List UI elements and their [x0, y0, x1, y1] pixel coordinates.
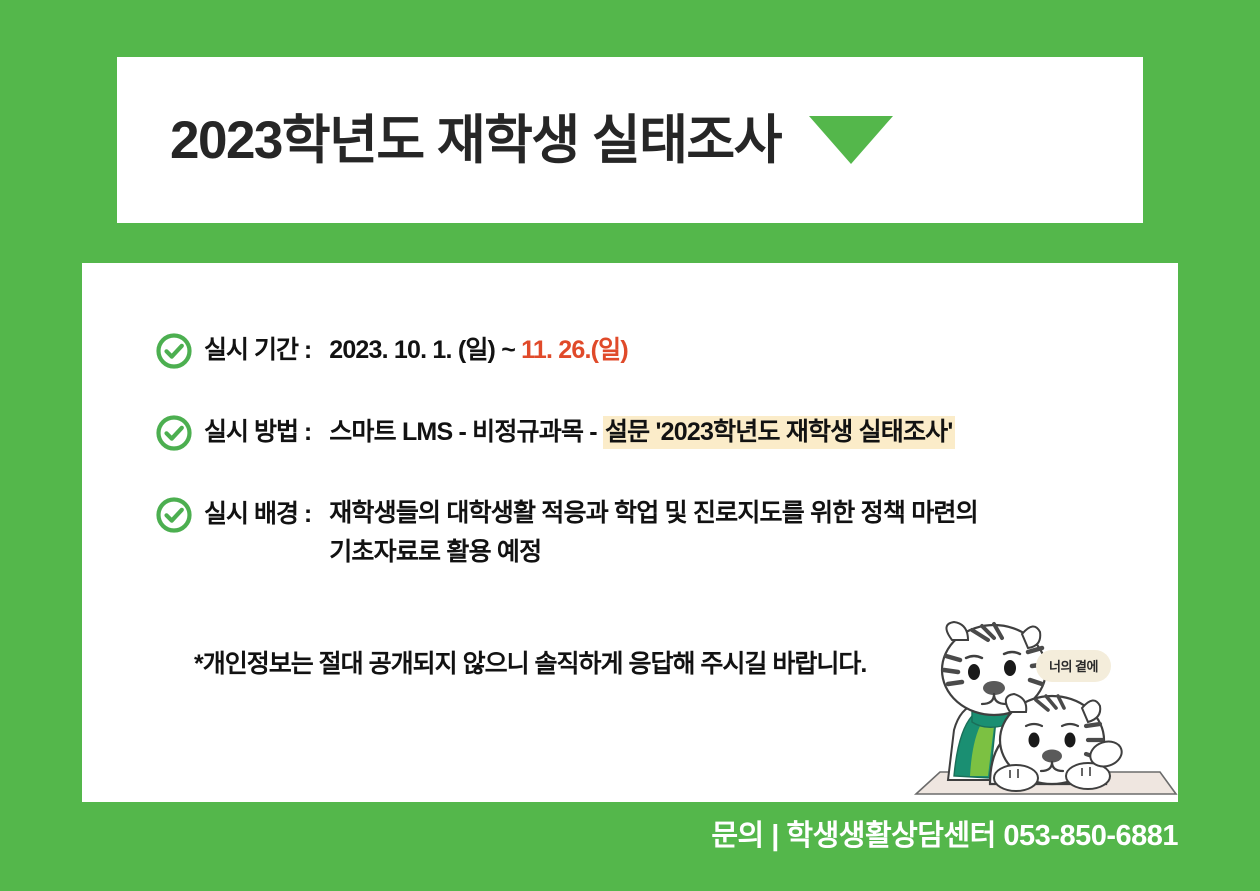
triangle-down-icon	[809, 116, 893, 164]
row-value-method: 스마트 LMS - 비정규과목 - 설문 '2023학년도 재학생 실태조사'	[329, 413, 954, 451]
check-circle-icon	[155, 414, 193, 452]
info-list: 실시 기간 : 2023. 10. 1. (일) ~ 11. 26.(일) 실시…	[155, 331, 1155, 614]
method-path: 스마트 LMS - 비정규과목 -	[329, 418, 603, 446]
row-label-method: 실시 방법 :	[204, 413, 311, 451]
footer-contact: 문의 | 학생생활상담센터 053-850-6881	[0, 812, 1178, 854]
info-row-method: 실시 방법 : 스마트 LMS - 비정규과목 - 설문 '2023학년도 재학…	[155, 413, 1155, 452]
check-circle-icon	[155, 332, 193, 370]
row-label-period: 실시 기간 :	[204, 331, 311, 369]
row-label-background: 실시 배경 :	[204, 495, 311, 533]
tiger-illustration	[910, 612, 1178, 802]
period-end: 11. 26.(일)	[521, 336, 628, 364]
period-start: 2023. 10. 1. (일) ~	[329, 336, 521, 364]
info-row-period: 실시 기간 : 2023. 10. 1. (일) ~ 11. 26.(일)	[155, 331, 1155, 370]
check-circle-icon	[155, 496, 193, 534]
background-line-1: 재학생들의 대학생활 적응과 학업 및 진로지도를 위한 정책 마련의	[329, 499, 978, 527]
info-row-background: 실시 배경 : 재학생들의 대학생활 적응과 학업 및 진로지도를 위한 정책 …	[155, 495, 1155, 571]
white-tiger-mascots: 너의 곁에	[910, 612, 1178, 802]
background-line-2: 기초자료로 활용 예정	[329, 534, 978, 571]
row-value-background: 재학생들의 대학생활 적응과 학업 및 진로지도를 위한 정책 마련의 기초자료…	[329, 495, 978, 571]
page-title: 2023학년도 재학생 실태조사	[170, 114, 781, 167]
title-card: 2023학년도 재학생 실태조사	[117, 57, 1143, 223]
main-content-card: 실시 기간 : 2023. 10. 1. (일) ~ 11. 26.(일) 실시…	[82, 263, 1178, 802]
method-survey-name: 설문 '2023학년도 재학생 실태조사'	[603, 416, 955, 449]
privacy-note: *개인정보는 절대 공개되지 않으니 솔직하게 응답해 주시길 바랍니다.	[194, 644, 866, 680]
row-value-period: 2023. 10. 1. (일) ~ 11. 26.(일)	[329, 331, 628, 369]
speech-bubble: 너의 곁에	[1036, 650, 1111, 682]
